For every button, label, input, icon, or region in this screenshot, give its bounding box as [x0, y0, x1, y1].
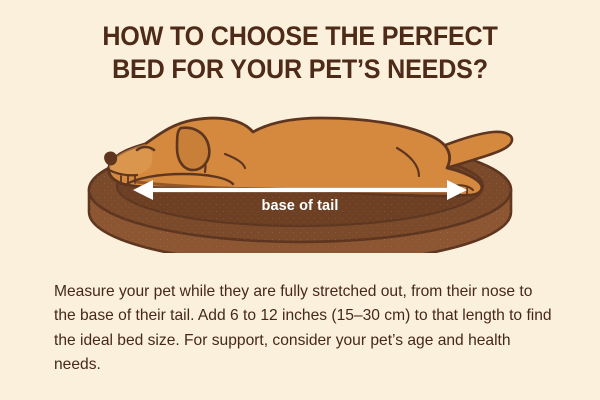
title-line-1: HOW TO CHOOSE THE PERFECT — [21, 20, 579, 53]
page-title: HOW TO CHOOSE THE PERFECT BED FOR YOUR P… — [0, 20, 600, 86]
dog-on-bed-illustration — [75, 98, 525, 253]
body-paragraph: Measure your pet while they are fully st… — [54, 280, 554, 378]
title-line-2: BED FOR YOUR PET’S NEEDS? — [21, 53, 579, 86]
infographic-card: HOW TO CHOOSE THE PERFECT BED FOR YOUR P… — [0, 0, 600, 400]
